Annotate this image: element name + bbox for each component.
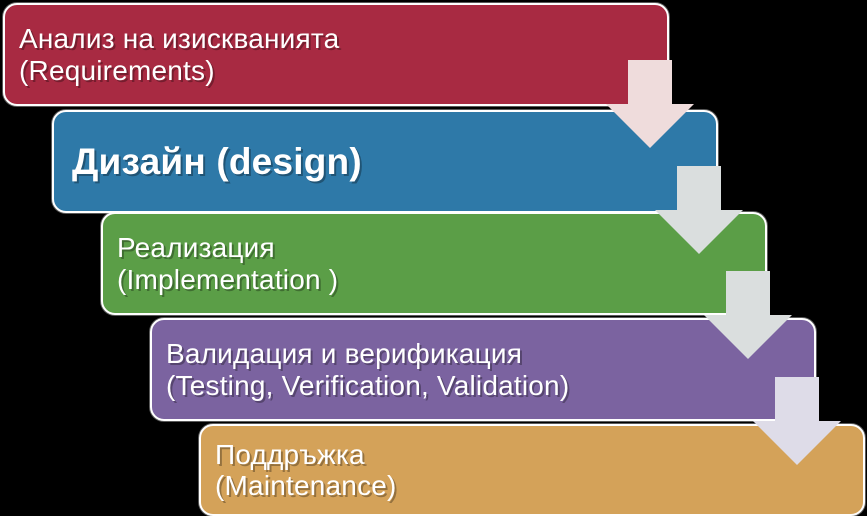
- stage-maintenance-label: Поддръжка (Maintenance): [201, 439, 397, 502]
- waterfall-diagram: Анализ на изискванията (Requirements) Ди…: [0, 0, 867, 516]
- stage-verification[interactable]: Валидация и верификация (Testing, Verifi…: [150, 318, 816, 421]
- stage-requirements-label: Анализ на изискванията (Requirements): [5, 23, 339, 86]
- stage-implementation-label: Реализация (Implementation ): [103, 232, 338, 295]
- stage-implementation[interactable]: Реализация (Implementation ): [101, 212, 767, 315]
- stage-verification-label: Валидация и верификация (Testing, Verifi…: [152, 338, 569, 401]
- stage-maintenance[interactable]: Поддръжка (Maintenance): [199, 424, 865, 516]
- stage-design[interactable]: Дизайн (design): [52, 110, 718, 213]
- stage-design-label: Дизайн (design): [54, 141, 362, 182]
- stage-requirements[interactable]: Анализ на изискванията (Requirements): [3, 3, 669, 106]
